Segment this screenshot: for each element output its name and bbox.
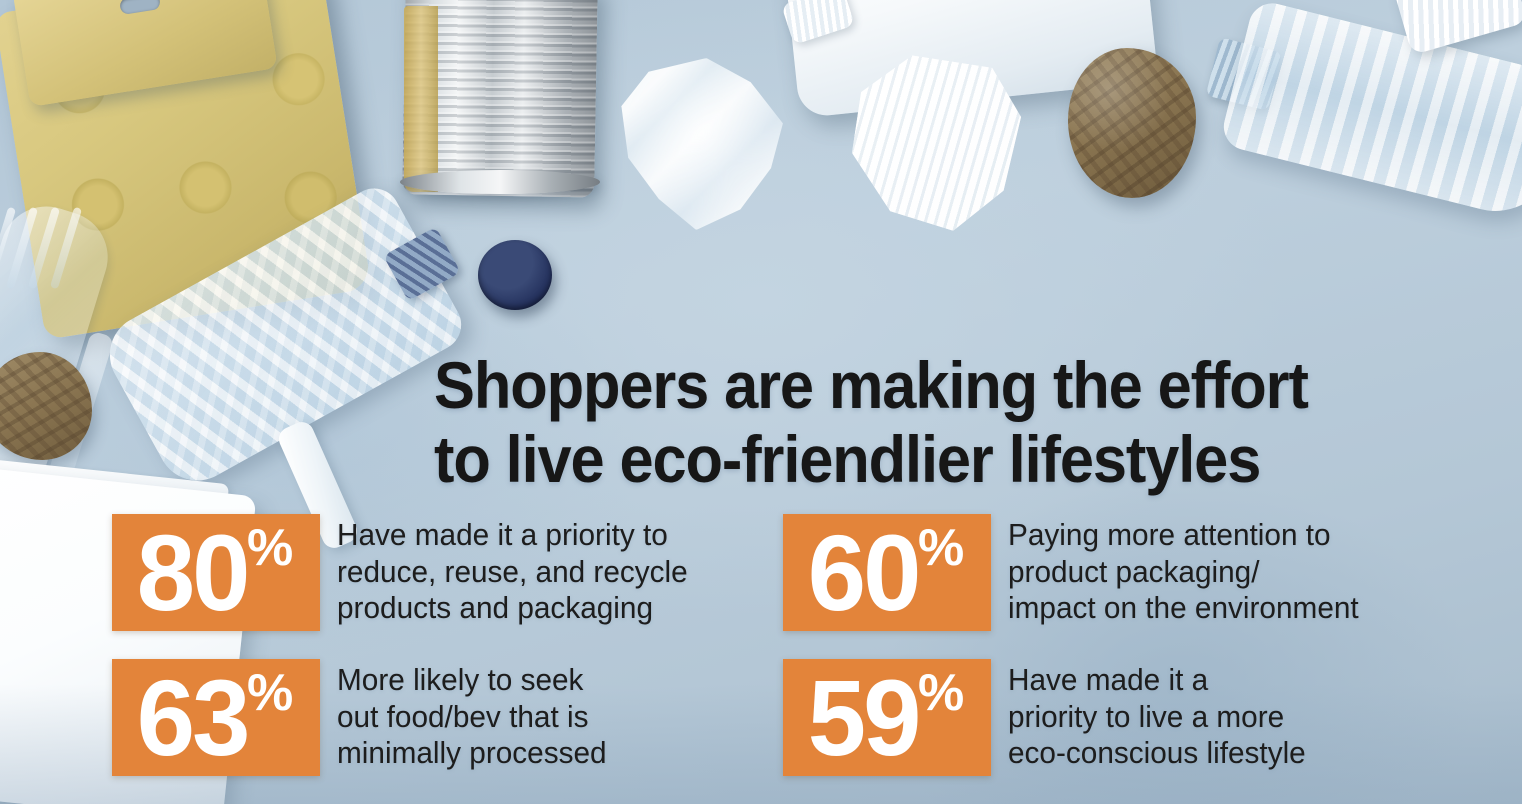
stat-item: 80 % Have made it a priority to reduce, … [112,514,757,645]
stat-description-line-1: More likely to seek [337,662,607,699]
stat-badge: 60 % [783,514,991,631]
stat-description-line-2: reduce, reuse, and recycle [337,554,688,591]
stat-value: 80 [137,523,248,623]
percent-sign: % [918,522,964,574]
statistics-grid: 80 % Have made it a priority to reduce, … [112,514,1442,790]
headline-line-2: to live eco-friendlier lifestyles [434,422,1327,496]
percent-sign: % [918,667,964,719]
stat-badge: 80 % [112,514,320,631]
page-title: Shoppers are making the effort to live e… [434,348,1327,496]
percent-sign: % [247,667,293,719]
stat-description-line-3: products and packaging [337,590,688,627]
stat-item: 63 % More likely to seek out food/bev th… [112,659,757,790]
infographic-content: Shoppers are making the effort to live e… [0,0,1522,804]
stat-description-line-3: minimally processed [337,735,607,772]
stat-description: Have made it a priority to live a more e… [1008,659,1306,772]
stat-description-line-2: out food/bev that is [337,699,607,736]
stat-value: 60 [808,523,919,623]
stat-description-line-1: Paying more attention to [1008,517,1359,554]
stat-badge: 59 % [783,659,991,776]
stat-value: 63 [137,668,248,768]
stat-description: Paying more attention to product packagi… [1008,514,1359,627]
stat-description-line-3: eco-conscious lifestyle [1008,735,1306,772]
stat-description-line-1: Have made it a priority to [337,517,688,554]
infographic-root: Shoppers are making the effort to live e… [0,0,1522,804]
stat-item: 60 % Paying more attention to product pa… [783,514,1428,645]
stat-description: Have made it a priority to reduce, reuse… [337,514,688,627]
stat-description-line-2: product packaging/ [1008,554,1359,591]
stat-description-line-2: priority to live a more [1008,699,1306,736]
stat-badge: 63 % [112,659,320,776]
stat-value: 59 [808,668,919,768]
stat-description-line-3: impact on the environment [1008,590,1359,627]
stat-description-line-1: Have made it a [1008,662,1306,699]
stat-description: More likely to seek out food/bev that is… [337,659,607,772]
headline-line-1: Shoppers are making the effort [434,348,1327,422]
percent-sign: % [247,522,293,574]
stat-item: 59 % Have made it a priority to live a m… [783,659,1428,790]
